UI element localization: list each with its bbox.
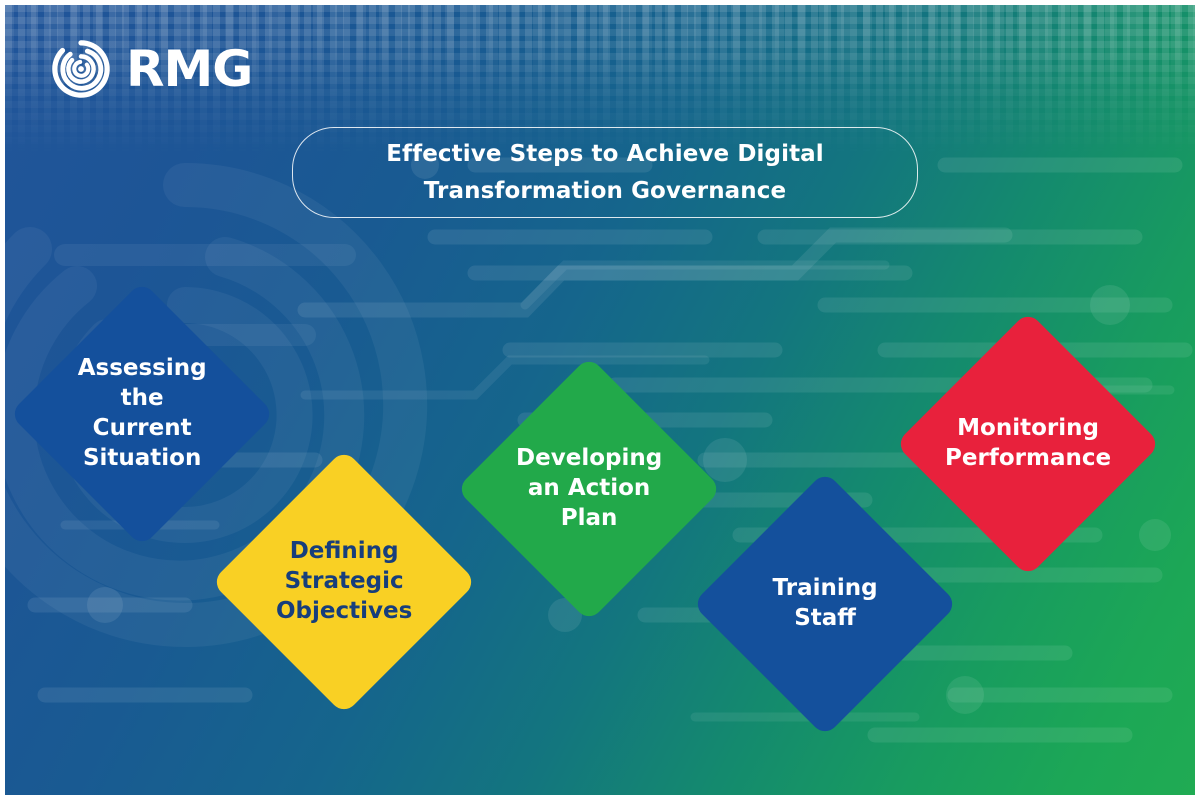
step-diamond-2[interactable]: Defining Strategic Objectives (211, 449, 477, 715)
brand-logo[interactable]: RMG (50, 38, 252, 100)
step-label-5: Monitoring Performance (934, 414, 1122, 474)
infographic-canvas: RMG Effective Steps to Achieve Digital T… (0, 0, 1200, 800)
spiral-swirl-icon (50, 38, 112, 100)
brand-name: RMG (126, 44, 252, 94)
title-container: Effective Steps to Achieve Digital Trans… (292, 127, 918, 218)
step-label-1: Assessing the Current Situation (48, 354, 236, 474)
step-diamond-4[interactable]: Training Staff (692, 471, 958, 737)
step-label-2: Defining Strategic Objectives (250, 537, 438, 627)
step-label-4: Training Staff (731, 574, 919, 634)
infographic-stage: RMG Effective Steps to Achieve Digital T… (5, 5, 1195, 795)
step-diamond-1[interactable]: Assessing the Current Situation (9, 281, 275, 547)
page-title: Effective Steps to Achieve Digital Trans… (293, 136, 917, 209)
step-diamond-3[interactable]: Developing an Action Plan (456, 356, 722, 622)
step-diamond-5[interactable]: Monitoring Performance (895, 311, 1161, 577)
step-label-3: Developing an Action Plan (495, 444, 683, 534)
